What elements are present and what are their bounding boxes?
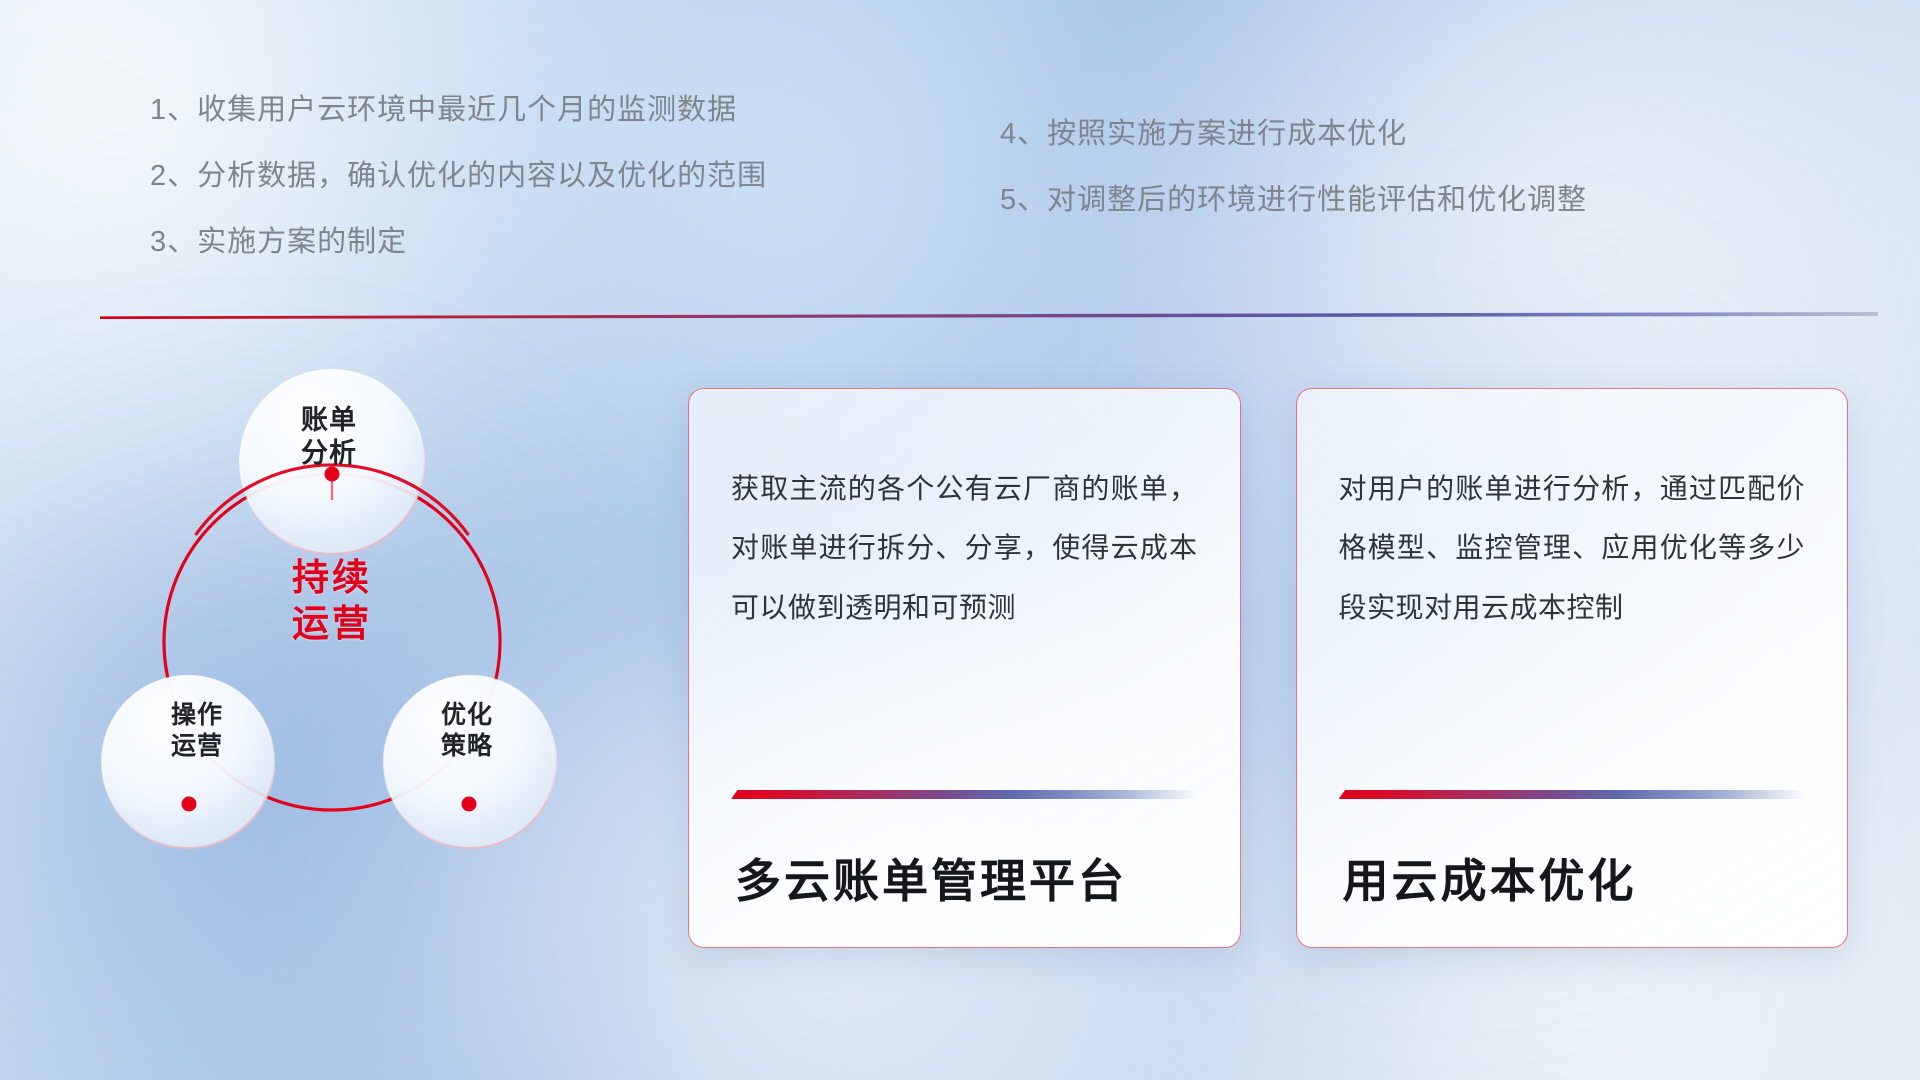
venn-label-top: 账单 分析 — [244, 404, 414, 470]
venn-node-right — [462, 797, 477, 812]
venn-node-left — [182, 797, 197, 812]
venn-label-left: 操作 运营 — [112, 700, 282, 761]
list-item: 5、对调整后的环境进行性能评估和优化调整 — [1000, 186, 1587, 215]
card-title: 用云成本优化 — [1339, 799, 1806, 947]
card-body-text: 对用户的账单进行分析，通过匹配价格模型、监控管理、应用优化等多少段实现对用云成本… — [1339, 459, 1806, 727]
card-divider — [731, 790, 1198, 799]
cards-section: 获取主流的各个公有云厂商的账单，对账单进行拆分、分享，使得云成本可以做到透明和可… — [688, 388, 1848, 953]
list-item: 2、分析数据，确认优化的内容以及优化的范围 — [150, 162, 767, 191]
steps-right-column: 4、按照实施方案进行成本优化 5、对调整后的环境进行性能评估和优化调整 — [1000, 120, 1587, 252]
card-divider — [1339, 790, 1806, 799]
list-item: 4、按照实施方案进行成本优化 — [1000, 120, 1587, 149]
info-card[interactable]: 获取主流的各个公有云厂商的账单，对账单进行拆分、分享，使得云成本可以做到透明和可… — [688, 388, 1241, 948]
venn-label-right: 优化 策略 — [382, 700, 552, 761]
card-body-text: 获取主流的各个公有云厂商的账单，对账单进行拆分、分享，使得云成本可以做到透明和可… — [731, 459, 1198, 727]
steps-left-column: 1、收集用户云环境中最近几个月的监测数据 2、分析数据，确认优化的内容以及优化的… — [150, 96, 767, 294]
list-item: 3、实施方案的制定 — [150, 228, 767, 257]
venn-center-label: 持续 运营 — [242, 555, 422, 647]
card-title: 多云账单管理平台 — [731, 799, 1198, 947]
info-card[interactable]: 对用户的账单进行分析，通过匹配价格模型、监控管理、应用优化等多少段实现对用云成本… — [1296, 388, 1849, 948]
venn-diagram: 账单 分析 操作 运营 优化 策略 持续 运营 — [92, 352, 572, 912]
list-item: 1、收集用户云环境中最近几个月的监测数据 — [150, 96, 767, 125]
steps-section: 1、收集用户云环境中最近几个月的监测数据 2、分析数据，确认优化的内容以及优化的… — [0, 0, 1920, 250]
